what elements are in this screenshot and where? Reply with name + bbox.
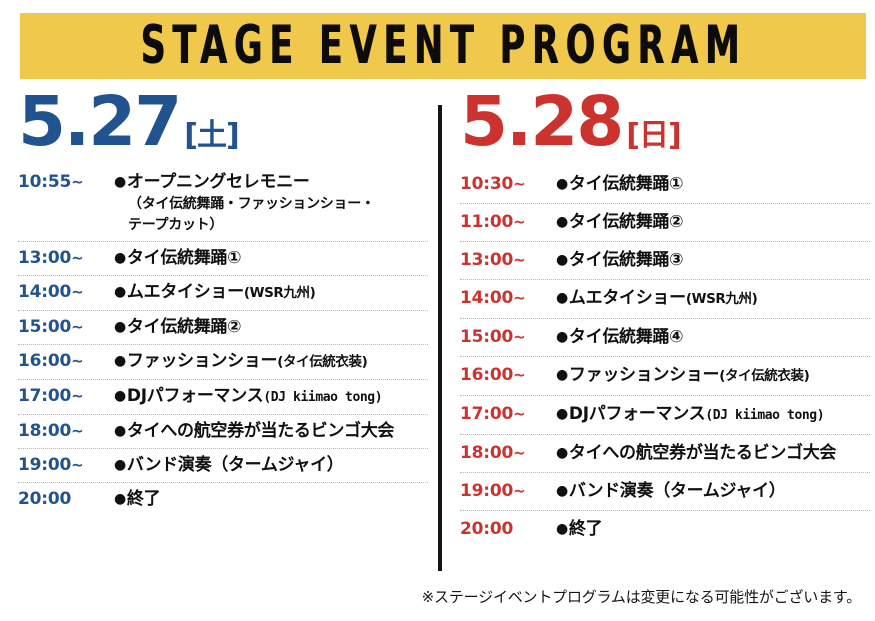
column-divider xyxy=(438,105,442,571)
row-time: 17:00~ xyxy=(18,385,114,408)
row-body: ●タイ伝統舞踊② xyxy=(556,211,870,234)
row-time: 14:00~ xyxy=(460,287,556,310)
row-time-tilde: ~ xyxy=(513,251,526,269)
bullet-icon: ● xyxy=(556,176,568,192)
row-note: (タイ伝統衣装) xyxy=(719,368,809,384)
title-banner: STAGE EVENT PROGRAM xyxy=(20,13,866,79)
row-title: タイへの航空券が当たるビンゴ大会 xyxy=(569,443,836,463)
schedule-columns: 5.27 [土] 10:55~●オープニングセレモニー（タイ伝統舞踊・ファッショ… xyxy=(0,86,875,576)
disclaimer-note: ※ステージイベントプログラムは変更になる可能性がございます。 xyxy=(0,586,861,607)
bullet-icon: ● xyxy=(114,491,126,507)
schedule-row: 18:00~●タイへの航空券が当たるビンゴ大会 xyxy=(460,435,870,473)
row-time-tilde: ~ xyxy=(71,318,84,336)
row-title-line: ●DJパフォーマンス(DJ kiimao tong) xyxy=(114,385,428,409)
row-time-tilde: ~ xyxy=(513,444,526,462)
schedule-row: 10:55~●オープニングセレモニー（タイ伝統舞踊・ファッションショー・テープカ… xyxy=(18,166,428,242)
bullet-icon: ● xyxy=(114,174,126,190)
row-time-tilde: ~ xyxy=(513,482,526,500)
date-heading-day2: 5.28 [日] xyxy=(452,86,875,160)
schedule-row: 17:00~●DJパフォーマンス(DJ kiimao tong) xyxy=(18,380,428,415)
row-title: バンド演奏（タームジャイ） xyxy=(127,455,344,475)
row-note: (タイ伝統衣装) xyxy=(277,354,367,370)
row-title: タイ伝統舞踊② xyxy=(569,212,683,232)
schedule-rows-day2: 10:30~●タイ伝統舞踊①11:00~●タイ伝統舞踊②13:00~●タイ伝統舞… xyxy=(452,166,875,548)
row-title-line: ●タイ伝統舞踊① xyxy=(556,173,870,196)
schedule-row: 20:00●終了 xyxy=(460,511,870,548)
bullet-icon: ● xyxy=(114,353,126,369)
schedule-row: 13:00~●タイ伝統舞踊③ xyxy=(460,242,870,280)
row-body: ●終了 xyxy=(114,488,428,511)
row-title: ファッションショー xyxy=(127,351,277,371)
bullet-icon: ● xyxy=(114,423,126,439)
row-body: ●ムエタイショー(WSR九州) xyxy=(556,287,870,311)
schedule-row: 13:00~●タイ伝統舞踊① xyxy=(18,242,428,276)
schedule-rows-day1: 10:55~●オープニングセレモニー（タイ伝統舞踊・ファッションショー・テープカ… xyxy=(10,166,434,516)
row-title: タイ伝統舞踊④ xyxy=(569,327,683,347)
schedule-row: 16:00~●ファッションショー(タイ伝統衣装) xyxy=(460,357,870,396)
row-time-tilde: ~ xyxy=(513,175,526,193)
date-number-day2: 5.28 xyxy=(460,86,622,158)
row-note: (WSR九州) xyxy=(686,291,758,307)
row-time-tilde: ~ xyxy=(71,387,84,405)
schedule-row: 15:00~●タイ伝統舞踊② xyxy=(18,311,428,345)
row-time-tilde: ~ xyxy=(513,366,526,384)
schedule-row: 14:00~●ムエタイショー(WSR九州) xyxy=(460,280,870,319)
row-time: 10:55~ xyxy=(18,171,114,194)
row-time: 14:00~ xyxy=(18,281,114,304)
row-title-line: ●終了 xyxy=(556,518,870,541)
row-body: ●タイへの航空券が当たるビンゴ大会 xyxy=(556,442,870,465)
row-time: 11:00~ xyxy=(460,211,556,234)
disclaimer-text: ※ステージイベントプログラムは変更になる可能性がございます。 xyxy=(422,588,861,606)
page-title: STAGE EVENT PROGRAM xyxy=(140,20,746,73)
bullet-icon: ● xyxy=(556,214,568,230)
row-time-tilde: ~ xyxy=(513,213,526,231)
row-body: ●ファッションショー(タイ伝統衣装) xyxy=(556,364,870,388)
row-time-tilde: ~ xyxy=(71,173,84,191)
bullet-icon: ● xyxy=(556,483,568,499)
row-title-line: ●バンド演奏（タームジャイ） xyxy=(556,480,870,503)
row-title-line: ●タイ伝統舞踊② xyxy=(556,211,870,234)
bullet-icon: ● xyxy=(556,367,568,383)
bullet-icon: ● xyxy=(114,457,126,473)
row-time: 15:00~ xyxy=(18,316,114,339)
bullet-icon: ● xyxy=(556,290,568,306)
schedule-row: 15:00~●タイ伝統舞踊④ xyxy=(460,319,870,357)
row-body: ●タイ伝統舞踊② xyxy=(114,316,428,339)
row-title: オープニングセレモニー xyxy=(127,172,310,192)
bullet-icon: ● xyxy=(114,319,126,335)
bullet-icon: ● xyxy=(556,521,568,537)
row-body: ●バンド演奏（タームジャイ） xyxy=(114,454,428,477)
row-time-tilde: ~ xyxy=(513,328,526,346)
row-time: 13:00~ xyxy=(460,249,556,272)
row-title: 終了 xyxy=(569,519,602,539)
bullet-icon: ● xyxy=(556,329,568,345)
row-title-line: ●バンド演奏（タームジャイ） xyxy=(114,454,428,477)
row-time: 19:00~ xyxy=(460,480,556,503)
row-title: DJパフォーマンス xyxy=(569,404,705,424)
row-body: ●終了 xyxy=(556,518,870,541)
row-time: 10:30~ xyxy=(460,173,556,196)
schedule-row: 17:00~●DJパフォーマンス(DJ kiimao tong) xyxy=(460,396,870,435)
row-title-line: ●タイへの航空券が当たるビンゴ大会 xyxy=(114,420,428,443)
row-title-line: ●タイ伝統舞踊② xyxy=(114,316,428,339)
row-title-line: ●タイ伝統舞踊③ xyxy=(556,249,870,272)
row-title: タイ伝統舞踊③ xyxy=(569,250,683,270)
row-title-line: ●ファッションショー(タイ伝統衣装) xyxy=(114,350,428,374)
row-title-line: ●ファッションショー(タイ伝統衣装) xyxy=(556,364,870,388)
schedule-row: 20:00●終了 xyxy=(18,483,428,516)
row-body: ●タイ伝統舞踊④ xyxy=(556,326,870,349)
date-number-day1: 5.27 xyxy=(18,86,180,158)
row-time-tilde: ~ xyxy=(71,283,84,301)
row-title: 終了 xyxy=(127,489,160,509)
schedule-row: 19:00~●バンド演奏（タームジャイ） xyxy=(460,473,870,511)
row-time: 18:00~ xyxy=(18,420,114,443)
row-body: ●タイ伝統舞踊③ xyxy=(556,249,870,272)
row-title: タイ伝統舞踊② xyxy=(127,317,241,337)
row-title: タイ伝統舞踊① xyxy=(569,174,683,194)
bullet-icon: ● xyxy=(556,445,568,461)
row-title-line: ●タイ伝統舞踊① xyxy=(114,247,428,270)
row-body: ●オープニングセレモニー（タイ伝統舞踊・ファッションショー・テープカット） xyxy=(114,171,428,236)
row-title: タイへの航空券が当たるビンゴ大会 xyxy=(127,421,394,441)
schedule-row: 16:00~●ファッションショー(タイ伝統衣装) xyxy=(18,345,428,380)
schedule-column-day1: 5.27 [土] 10:55~●オープニングセレモニー（タイ伝統舞踊・ファッショ… xyxy=(10,86,434,516)
row-time-tilde: ~ xyxy=(71,456,84,474)
row-time: 18:00~ xyxy=(460,442,556,465)
row-subtitle-2: テープカット） xyxy=(114,215,428,236)
row-subtitle-1: （タイ伝統舞踊・ファッションショー・ xyxy=(114,194,428,215)
row-title-line: ●タイ伝統舞踊④ xyxy=(556,326,870,349)
row-title: ムエタイショー xyxy=(569,288,686,308)
row-time-tilde: ~ xyxy=(513,289,526,307)
date-heading-day1: 5.27 [土] xyxy=(10,86,434,160)
row-body: ●タイ伝統舞踊① xyxy=(114,247,428,270)
bullet-icon: ● xyxy=(556,406,568,422)
row-time: 13:00~ xyxy=(18,247,114,270)
row-title: タイ伝統舞踊① xyxy=(127,248,241,268)
row-time: 20:00 xyxy=(460,518,556,541)
row-body: ●タイへの航空券が当たるビンゴ大会 xyxy=(114,420,428,443)
row-note-mono: (DJ kiimao tong) xyxy=(263,390,382,405)
row-title: ファッションショー xyxy=(569,365,719,385)
row-title: ムエタイショー xyxy=(127,282,244,302)
row-title-line: ●オープニングセレモニー xyxy=(114,171,428,194)
row-title-line: ●ムエタイショー(WSR九州) xyxy=(114,281,428,305)
row-body: ●ファッションショー(タイ伝統衣装) xyxy=(114,350,428,374)
date-dayofweek-day1: [土] xyxy=(184,121,238,151)
schedule-column-day2: 5.28 [日] 10:30~●タイ伝統舞踊①11:00~●タイ伝統舞踊②13:… xyxy=(452,86,875,548)
bullet-icon: ● xyxy=(114,250,126,266)
date-dayofweek-day2: [日] xyxy=(626,121,680,151)
row-time: 17:00~ xyxy=(460,403,556,426)
stage-event-program-poster: STAGE EVENT PROGRAM 5.27 [土] 10:55~●オープニ… xyxy=(0,0,875,621)
row-title-line: ●終了 xyxy=(114,488,428,511)
row-note-mono: (DJ kiimao tong) xyxy=(705,408,824,423)
row-title-line: ●DJパフォーマンス(DJ kiimao tong) xyxy=(556,403,870,427)
row-title: バンド演奏（タームジャイ） xyxy=(569,481,786,501)
row-body: ●DJパフォーマンス(DJ kiimao tong) xyxy=(556,403,870,427)
row-body: ●DJパフォーマンス(DJ kiimao tong) xyxy=(114,385,428,409)
schedule-row: 18:00~●タイへの航空券が当たるビンゴ大会 xyxy=(18,415,428,449)
row-time-tilde: ~ xyxy=(71,352,84,370)
row-time-tilde: ~ xyxy=(513,405,526,423)
row-note: (WSR九州) xyxy=(244,285,316,301)
row-title: DJパフォーマンス xyxy=(127,386,263,406)
row-title-line: ●タイへの航空券が当たるビンゴ大会 xyxy=(556,442,870,465)
schedule-row: 14:00~●ムエタイショー(WSR九州) xyxy=(18,276,428,311)
schedule-row: 19:00~●バンド演奏（タームジャイ） xyxy=(18,449,428,483)
row-title-line: ●ムエタイショー(WSR九州) xyxy=(556,287,870,311)
schedule-row: 10:30~●タイ伝統舞踊① xyxy=(460,166,870,204)
row-time: 16:00~ xyxy=(460,364,556,387)
row-time: 20:00 xyxy=(18,488,114,511)
row-body: ●ムエタイショー(WSR九州) xyxy=(114,281,428,305)
bullet-icon: ● xyxy=(114,284,126,300)
row-time: 16:00~ xyxy=(18,350,114,373)
row-time: 15:00~ xyxy=(460,326,556,349)
schedule-row: 11:00~●タイ伝統舞踊② xyxy=(460,204,870,242)
row-time: 19:00~ xyxy=(18,454,114,477)
row-body: ●タイ伝統舞踊① xyxy=(556,173,870,196)
bullet-icon: ● xyxy=(114,388,126,404)
row-body: ●バンド演奏（タームジャイ） xyxy=(556,480,870,503)
row-time-tilde: ~ xyxy=(71,422,84,440)
row-time-tilde: ~ xyxy=(71,249,84,267)
bullet-icon: ● xyxy=(556,252,568,268)
